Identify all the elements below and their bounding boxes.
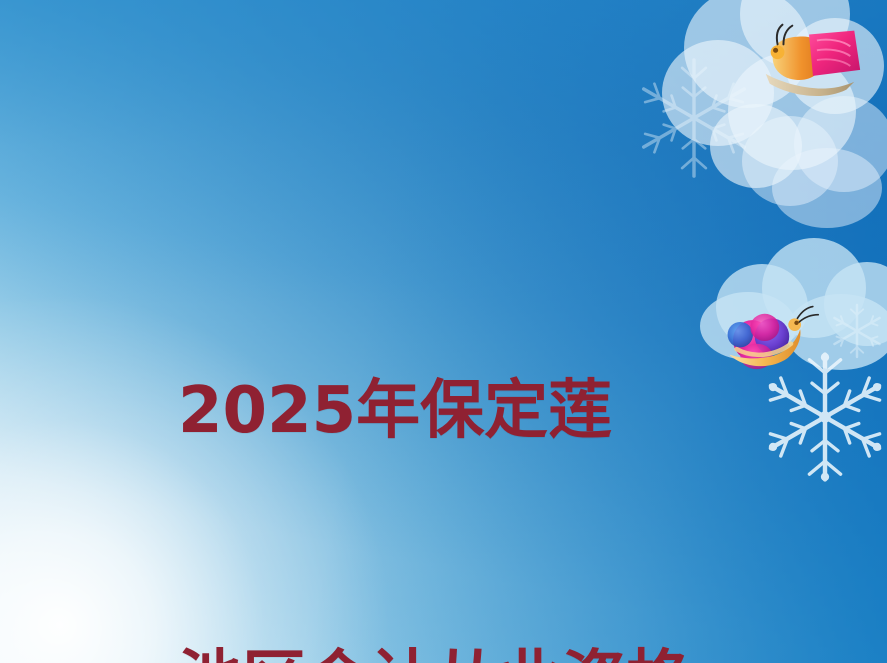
cloud-top-right-icon bbox=[662, 0, 887, 188]
snowflake-lower-right-icon bbox=[760, 352, 887, 482]
snowflake-small-icon bbox=[826, 300, 887, 362]
headline-line-1: 2025年保定莲 bbox=[178, 366, 738, 456]
cloud-faint-upper-icon bbox=[742, 96, 887, 226]
banner-canvas: 2025年保定莲 池区会计从业资格 证报培训班怎么样 bbox=[0, 0, 887, 663]
headline-text: 2025年保定莲 池区会计从业资格 证报培训班怎么样 bbox=[178, 186, 738, 663]
snowflake-upper-icon bbox=[628, 52, 760, 184]
headline-line-2: 池区会计从业资格 bbox=[178, 636, 738, 663]
snail-pink-icon bbox=[752, 22, 870, 106]
